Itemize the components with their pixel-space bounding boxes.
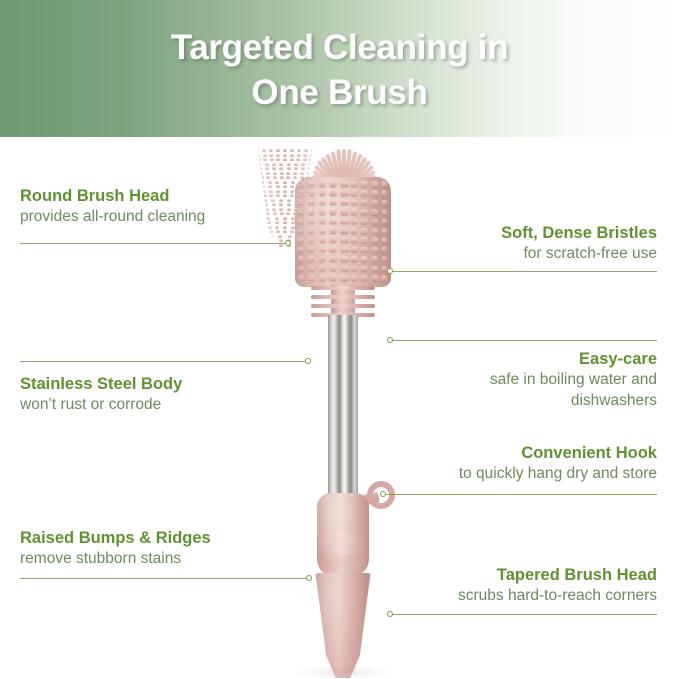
header-banner: Targeted Cleaning in One Brush (0, 0, 679, 137)
callout-subtitle-line-1: safe in boiling water and (490, 370, 657, 390)
leader-dot-stainless-steel-body (305, 358, 311, 364)
callout-title: Stainless Steel Body (20, 374, 182, 395)
stainless-steel-shaft (328, 315, 358, 500)
callout-subtitle-line-2: dishwashers (490, 391, 657, 411)
callout-subtitle: provides all-round cleaning (20, 207, 205, 227)
callout-subtitle: remove stubborn stains (20, 549, 211, 569)
leader-line-raised-bumps-ridges (20, 578, 309, 579)
leader-line-stainless-steel-body (20, 361, 308, 362)
title-line-2: One Brush (0, 71, 679, 116)
leader-line-tapered-brush-head (392, 614, 657, 615)
callout-title: Easy-care (490, 349, 657, 370)
leader-dot-soft-dense-bristles (387, 268, 393, 274)
handle-grip (317, 493, 369, 577)
bristle-nubs (295, 177, 391, 287)
page-title: Targeted Cleaning in One Brush (0, 26, 679, 116)
collar-ridge (311, 295, 375, 299)
callout-stainless-steel-body: Stainless Steel Body won’t rust or corro… (20, 374, 182, 416)
callout-raised-bumps-ridges: Raised Bumps & Ridges remove stubborn st… (20, 528, 211, 570)
callout-soft-dense-bristles: Soft, Dense Bristles for scratch-free us… (501, 223, 657, 265)
callout-round-brush-head: Round Brush Head provides all-round clea… (20, 186, 205, 228)
grip-highlight (316, 533, 370, 555)
leader-line-easy-care (392, 340, 657, 341)
leader-dot-round-brush-head (285, 240, 291, 246)
callout-convenient-hook: Convenient Hook to quickly hang dry and … (459, 443, 657, 485)
collar-ridge (311, 286, 375, 290)
callout-subtitle: won’t rust or corrode (20, 395, 182, 415)
leader-dot-convenient-hook (380, 491, 386, 497)
callout-subtitle: to quickly hang dry and store (459, 464, 657, 484)
callout-subtitle: for scratch-free use (501, 244, 657, 264)
leader-line-soft-dense-bristles (392, 271, 657, 272)
collar-ridge (311, 304, 375, 308)
brush-head-body (295, 177, 391, 287)
leader-dot-easy-care (387, 337, 393, 343)
infographic-canvas: Targeted Cleaning in One Brush (0, 0, 679, 679)
leader-dot-tapered-brush-head (387, 611, 393, 617)
leader-line-round-brush-head (20, 243, 288, 244)
callout-title: Round Brush Head (20, 186, 205, 207)
callout-title: Soft, Dense Bristles (501, 223, 657, 244)
callout-easy-care: Easy-care safe in boiling water and dish… (490, 349, 657, 411)
callout-title: Tapered Brush Head (458, 565, 657, 586)
leader-dot-raised-bumps-ridges (306, 575, 312, 581)
product-shadow (293, 665, 393, 679)
product-image (255, 145, 430, 679)
tapered-brush-head (313, 573, 373, 679)
leader-line-convenient-hook (385, 494, 657, 495)
ridged-collar (311, 285, 375, 317)
callout-subtitle: scrubs hard-to-reach corners (458, 586, 657, 606)
title-line-1: Targeted Cleaning in (171, 28, 509, 67)
callout-tapered-brush-head: Tapered Brush Head scrubs hard-to-reach … (458, 565, 657, 607)
callout-title: Raised Bumps & Ridges (20, 528, 211, 549)
callout-title: Convenient Hook (459, 443, 657, 464)
